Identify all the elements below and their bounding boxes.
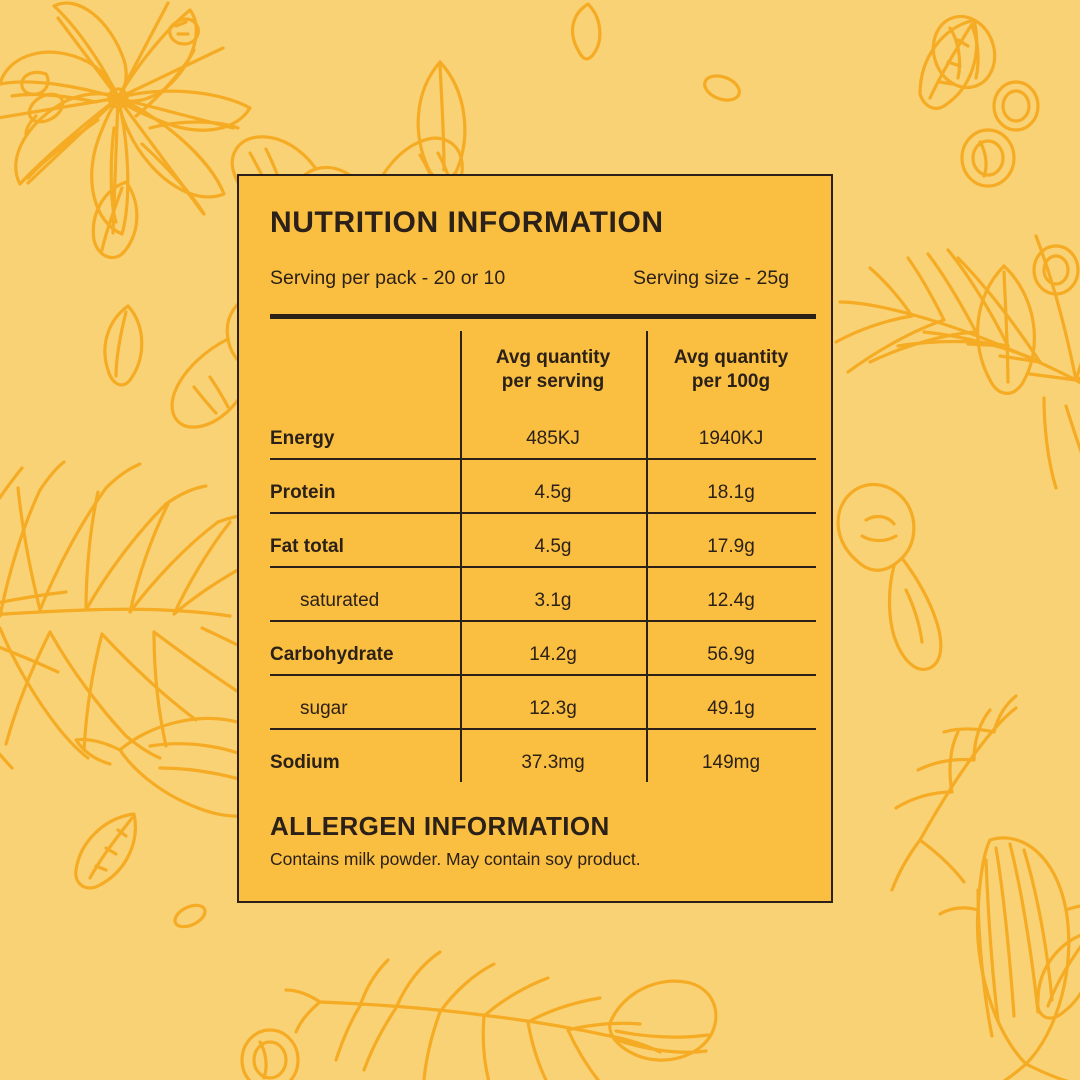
serving-size: Serving size - 25g	[633, 267, 789, 290]
row-divider	[270, 728, 816, 730]
berries-icon	[242, 1030, 298, 1080]
corn-cob-icon	[940, 838, 1080, 1080]
cell-per-serving: 37.3mg	[460, 736, 646, 790]
clove-icon	[24, 89, 67, 134]
seed-pod-icon	[701, 72, 742, 105]
column-header-per-serving: Avg quantityper serving	[460, 319, 646, 412]
pumpkin-seed-icon	[610, 981, 716, 1060]
berries-icon	[924, 8, 1038, 186]
star-anise-icon	[0, 3, 250, 234]
seed-pod-icon	[105, 306, 142, 385]
row-divider	[270, 674, 816, 676]
ginger-root-icon	[838, 485, 941, 670]
serving-row: Serving per pack - 20 or 10 Serving size…	[270, 267, 816, 293]
column-divider-2	[646, 331, 648, 782]
table-header-row: Avg quantityper servingAvg quantityper 1…	[270, 319, 816, 412]
berries-icon	[1034, 246, 1078, 294]
serving-per-pack: Serving per pack - 20 or 10	[270, 267, 505, 290]
pumpkin-seed-icon	[93, 182, 137, 258]
column-header-label: Avg quantityper 100g	[646, 346, 816, 394]
seed-pod-icon	[172, 901, 209, 931]
leaf-icon	[920, 20, 977, 108]
column-divider-1	[460, 331, 462, 782]
leaf-icon	[1038, 932, 1080, 1018]
table-row: Sodium37.3mg149mg	[270, 736, 816, 790]
page-title: NUTRITION INFORMATION	[270, 208, 664, 238]
rosemary-sprig-icon	[286, 952, 660, 1080]
leaf-icon	[76, 814, 136, 888]
panel-inner: NUTRITION INFORMATION Serving per pack -…	[270, 176, 816, 901]
row-divider	[270, 512, 816, 514]
allergen-title: ALLERGEN INFORMATION	[270, 813, 610, 839]
column-header-label: Avg quantityper serving	[460, 346, 646, 394]
column-header-nutrient	[270, 319, 460, 412]
row-divider	[270, 458, 816, 460]
row-divider	[270, 620, 816, 622]
seed-pod-icon	[978, 266, 1035, 393]
cell-per-100g: 149mg	[646, 736, 816, 790]
row-divider	[270, 566, 816, 568]
nutrition-panel: NUTRITION INFORMATION Serving per pack -…	[237, 174, 833, 903]
seed-pod-icon	[573, 4, 600, 59]
seed-pod-icon	[418, 62, 465, 180]
nutrition-table: Avg quantityper servingAvg quantityper 1…	[270, 319, 816, 790]
allergen-text: Contains milk powder. May contain soy pr…	[270, 849, 641, 870]
rosemary-sprig-icon	[892, 696, 1016, 890]
row-label: Sodium	[270, 736, 460, 790]
column-header-per-100g: Avg quantityper 100g	[646, 319, 816, 412]
rosemary-sprig-icon	[836, 236, 1080, 496]
